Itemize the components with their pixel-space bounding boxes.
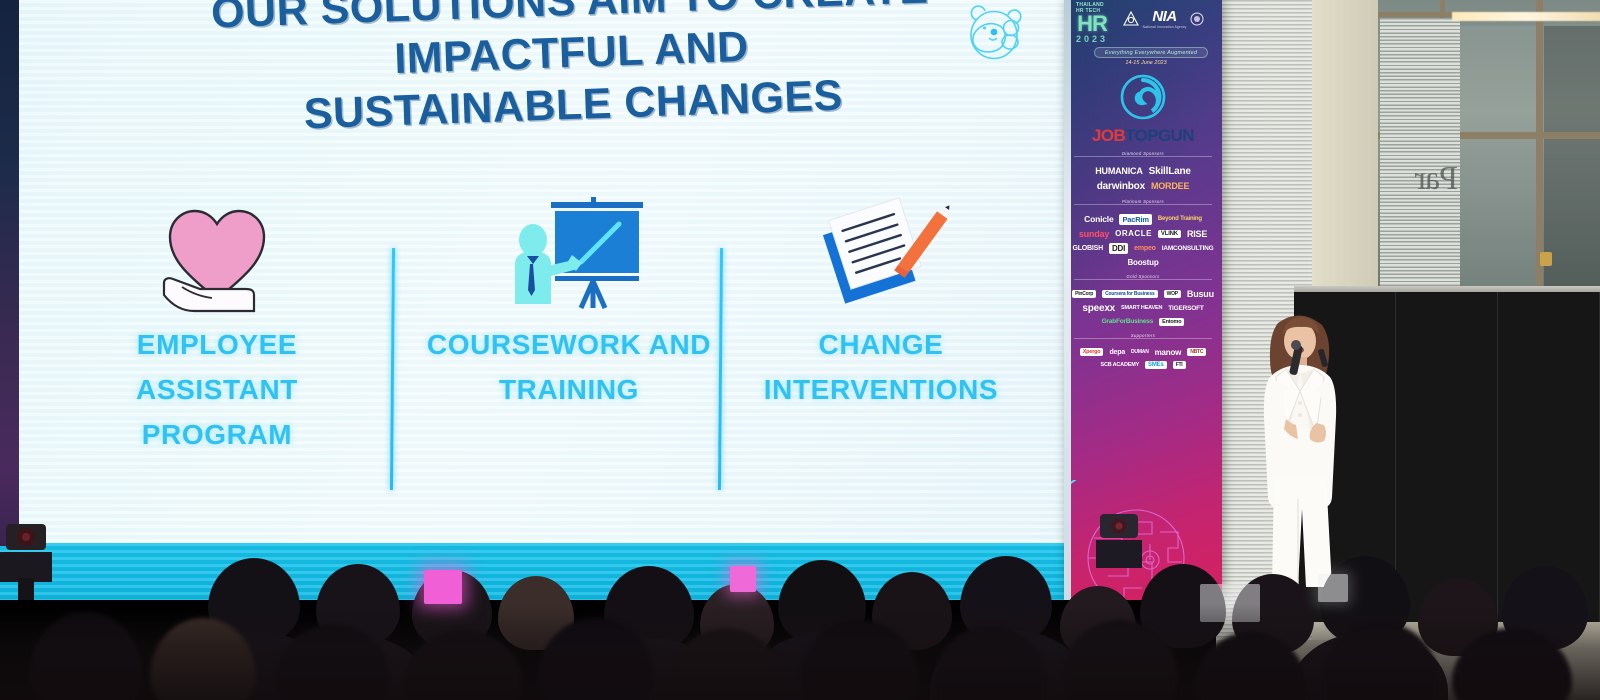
gold-sponsor-logos: PinCorp Coursera for Business WOP Busuu … — [1064, 287, 1222, 328]
column-label-1: EMPLOYEE ASSISTANT PROGRAM — [67, 322, 367, 457]
door-handle[interactable] — [1540, 252, 1552, 266]
presenter-whiteboard-icon — [419, 182, 719, 322]
sponsor-logo: TIGERSOFT — [1168, 305, 1203, 312]
solution-column-employee-assistant: EMPLOYEE ASSISTANT PROGRAM — [67, 182, 367, 457]
solution-columns: EMPLOYEE ASSISTANT PROGRAM — [19, 182, 1072, 482]
diamond-sponsor-logos: HUMANICA SkillLane darwinbox MORDEE — [1064, 164, 1222, 194]
event-dates: 14-15 June 2023 — [1076, 60, 1216, 66]
ceiling-light-strip — [1452, 12, 1600, 21]
sponsor-logo: darwinbox — [1097, 181, 1145, 192]
sponsor-logo: HUMANICA — [1095, 166, 1142, 176]
led-presentation-screen: OUR SOLUTIONS AIM TO CREATE IMPACTFUL AN… — [0, 0, 1072, 600]
sponsor-logo: SCB ACADEMY — [1101, 362, 1140, 368]
audience-silhouettes — [0, 520, 1600, 700]
column-divider-1 — [390, 248, 395, 490]
sponsor-logo: sunday — [1079, 229, 1109, 239]
sponsor-logo: IAMCONSULTING — [1162, 245, 1214, 252]
sponsor-logo: VLINK — [1158, 230, 1181, 238]
sponsor-logo: Busuu — [1187, 289, 1214, 299]
audience-device-screen — [1318, 574, 1348, 602]
partner-logo: NIA — [1143, 8, 1187, 25]
audience-head-front — [30, 612, 142, 700]
event-year: 2023 — [1076, 34, 1108, 44]
tier-label-supporters: Supporters — [1074, 333, 1212, 344]
sponsor-logo: ORACLE — [1115, 229, 1152, 238]
partner-sub: National Innovation Agency — [1143, 25, 1187, 29]
royal-seal-icon — [1190, 11, 1204, 27]
banner-edge-strip — [1064, 0, 1071, 600]
sponsor-logo: PacRim — [1119, 214, 1151, 225]
column-label-3: CHANGE INTERVENTIONS — [731, 322, 1031, 412]
sponsor-logo: SMART HEAVEN — [1121, 305, 1162, 311]
audience-head-front — [404, 630, 522, 700]
audience-device-screen — [1200, 584, 1260, 622]
sponsor-logo: Beyond Training — [1158, 216, 1202, 222]
sponsor-logo: SkillLane — [1149, 166, 1191, 177]
audience-device-screen — [424, 570, 462, 604]
sponsor-logo: Boostup — [1127, 258, 1158, 267]
tier-label-diamond: Diamond Sponsors — [1074, 151, 1212, 162]
jobtopgun-swirl-icon — [1120, 74, 1166, 120]
platinum-sponsor-logos: Conicle PacRim Beyond Training sunday OR… — [1064, 212, 1222, 269]
sponsor-logo: WOP — [1164, 290, 1181, 298]
event-tagline: Everything Everywhere Augmented — [1094, 47, 1208, 58]
headline-sponsor-block: JOBTOPGUN — [1064, 74, 1222, 146]
tier-label-platinum: Platinum Sponsors — [1074, 199, 1212, 210]
sponsor-logo: PinCorp — [1072, 290, 1096, 298]
sponsor-logo: DUMAN — [1131, 349, 1149, 355]
venue-signage: Par — [1388, 160, 1458, 198]
sponsor-logo: FTI — [1173, 361, 1186, 369]
sponsor-banner: THAILAND HR TECH HR 2023 NIA National In… — [1064, 0, 1222, 600]
sponsor-logo: Entomo — [1159, 318, 1184, 326]
sponsor-logo: speexx — [1082, 303, 1115, 314]
sponsor-logo: Coursera for Business — [1102, 290, 1157, 298]
audience-device-screen — [730, 566, 756, 592]
sponsor-logo: Xpergo — [1080, 348, 1104, 356]
supporter-logos: Xpergo depa DUMAN manow NBTC SCB ACADEMY… — [1064, 346, 1222, 371]
sponsor-logo: MORDEE — [1151, 181, 1189, 191]
conference-photo: OUR SOLUTIONS AIM TO CREATE IMPACTFUL AN… — [0, 0, 1600, 700]
sponsor-logo: manow — [1155, 348, 1182, 357]
event-logo-mark: HR — [1076, 14, 1108, 34]
screen-left-bezel — [0, 0, 19, 546]
sponsor-logo: empeo — [1134, 245, 1156, 252]
sponsor-logo: Conicle — [1084, 214, 1113, 224]
sponsor-logo: GrabForBusiness — [1102, 318, 1154, 325]
slide-title: OUR SOLUTIONS AIM TO CREATE IMPACTFUL AN… — [139, 0, 1004, 146]
document-pencil-icon — [731, 182, 1031, 322]
headline-sponsor-wordmark: JOBTOPGUN — [1064, 126, 1222, 146]
solution-column-coursework-training: COURSEWORK AND TRAINING — [419, 182, 719, 412]
banner-header: THAILAND HR TECH HR 2023 NIA National In… — [1064, 0, 1222, 66]
sponsor-logo: SMEs — [1145, 361, 1167, 369]
column-label-2: COURSEWORK AND TRAINING — [419, 322, 719, 412]
sponsor-logo: depa — [1109, 349, 1125, 356]
bear-mascot-logo — [964, 2, 1030, 60]
sponsor-logo: NBTC — [1187, 348, 1206, 356]
sponsor-logo: DDI — [1109, 243, 1128, 254]
sponsor-logo: GLOBISH — [1072, 245, 1103, 252]
slide-content: OUR SOLUTIONS AIM TO CREATE IMPACTFUL AN… — [19, 0, 1072, 546]
solution-column-change-interventions: CHANGE INTERVENTIONS — [731, 182, 1031, 412]
heart-in-hand-icon — [67, 182, 367, 322]
tier-label-gold: Gold Sponsors — [1074, 274, 1212, 285]
sponsor-logo: RISE — [1187, 229, 1207, 239]
nia-triangle-icon — [1123, 11, 1139, 27]
